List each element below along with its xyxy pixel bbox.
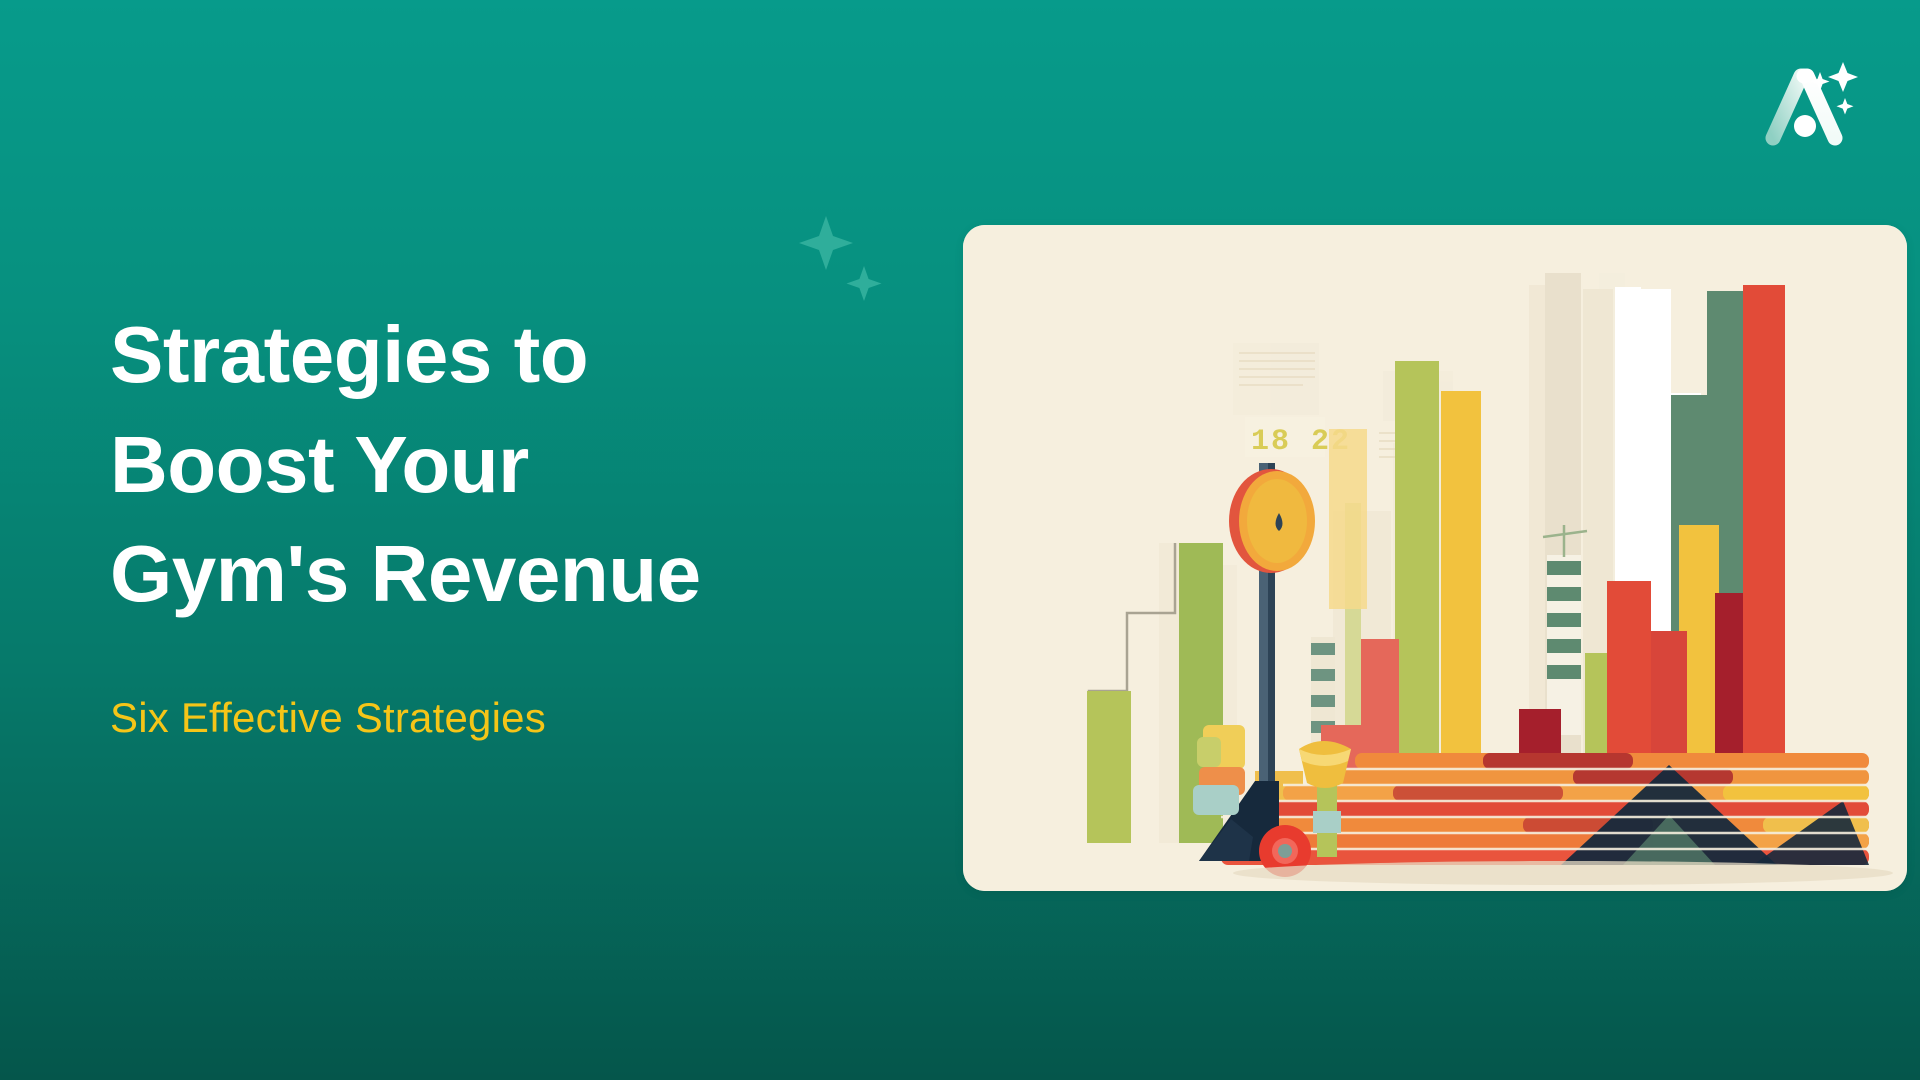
page-title: Strategies to Boost Your Gym's Revenue (110, 300, 910, 629)
page-subtitle: Six Effective Strategies (110, 693, 910, 743)
kettlebell-illustration (1193, 725, 1245, 815)
brand-a-mark-icon (1757, 42, 1875, 152)
gym-revenue-bar-chart-illustration: 18 22 (963, 225, 1907, 891)
illustration-card: 18 22 (963, 225, 1907, 891)
brand-logo[interactable] (1757, 42, 1875, 152)
promo-banner: Strategies to Boost Your Gym's Revenue S… (0, 0, 1920, 1080)
hero-text-block: Strategies to Boost Your Gym's Revenue S… (110, 300, 910, 743)
